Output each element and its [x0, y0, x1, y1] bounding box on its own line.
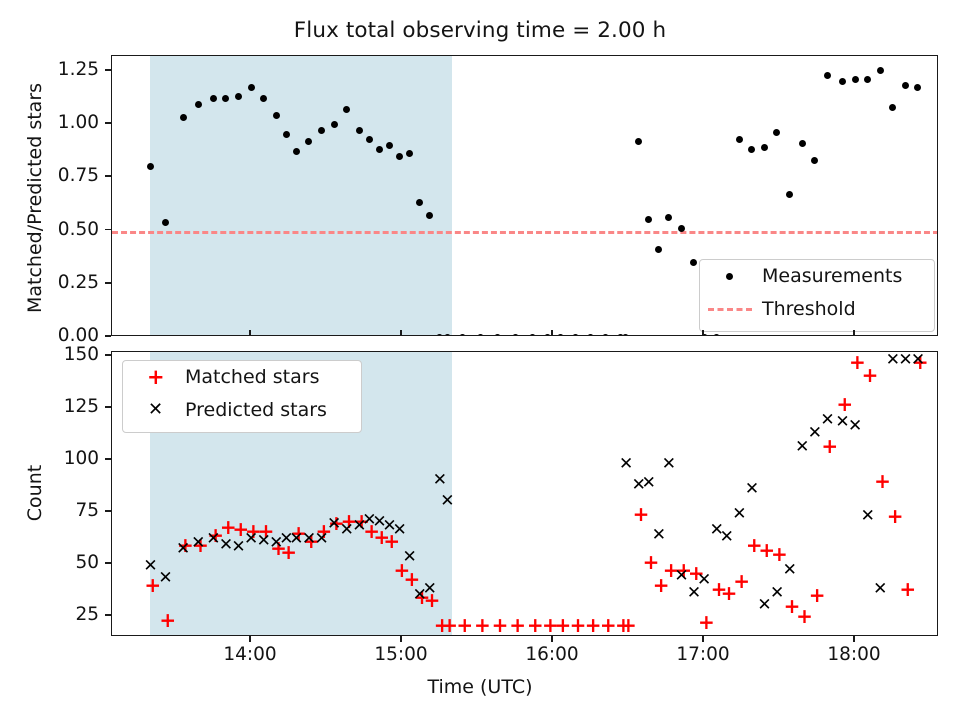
matched-star-marker: + [698, 612, 710, 632]
legend-label-measurements: Measurements [762, 265, 902, 287]
data-point [602, 334, 609, 336]
top-panel-legend: Measurements Threshold [699, 259, 935, 332]
data-point [799, 140, 806, 147]
ytick-label: 75 [0, 499, 99, 523]
matched-star-marker: + [796, 606, 808, 626]
data-point [748, 146, 755, 153]
data-point [839, 78, 846, 85]
data-point [811, 157, 818, 164]
data-point [386, 142, 393, 149]
ytick-label: 50 [0, 551, 99, 575]
predicted-star-marker: ✕ [820, 412, 834, 429]
data-point [273, 112, 280, 119]
matched-star-marker: + [862, 365, 874, 385]
legend-label-matched-stars: Matched stars [185, 366, 319, 388]
data-point [459, 334, 466, 336]
matched-star-marker: + [836, 394, 848, 414]
data-point [343, 106, 350, 113]
matched-star-marker: + [643, 552, 655, 572]
data-point [877, 67, 884, 74]
predicted-star-marker: ✕ [911, 352, 925, 369]
data-point [235, 93, 242, 100]
matched-star-marker: + [620, 615, 632, 635]
predicted-star-marker: ✕ [176, 541, 190, 558]
figure: Flux total observing time = 2.00 h Match… [0, 0, 960, 720]
bottom-panel-legend: + Matched stars ✕ Predicted stars [122, 360, 362, 433]
data-point [283, 131, 290, 138]
data-point [305, 138, 312, 145]
predicted-star-marker: ✕ [440, 493, 454, 510]
data-point [622, 334, 629, 336]
xtick-label: 14:00 [190, 644, 310, 665]
data-point [761, 144, 768, 151]
ytick-label: 1.00 [0, 111, 99, 135]
data-point [162, 219, 169, 226]
predicted-star-marker: ✕ [403, 549, 417, 566]
ytick-label: 0.25 [0, 271, 99, 295]
ytick-label: 25 [0, 603, 99, 627]
data-point [713, 334, 720, 336]
xaxis-label: Time (UTC) [0, 676, 960, 698]
predicted-star-marker: ✕ [619, 456, 633, 473]
matched-star-marker: + [585, 615, 597, 635]
data-point [635, 138, 642, 145]
matched-star-marker: + [509, 615, 521, 635]
matched-star-marker: + [663, 560, 675, 580]
legend-label-threshold: Threshold [762, 298, 856, 320]
predicted-star-marker: ✕ [783, 562, 797, 579]
data-point [318, 127, 325, 134]
data-point [572, 334, 579, 336]
data-point [690, 259, 697, 266]
data-point [889, 104, 896, 111]
data-point [864, 76, 871, 83]
xtick-mark [551, 330, 553, 336]
data-point [665, 214, 672, 221]
predicted-star-marker: ✕ [861, 508, 875, 525]
predicted-star-marker: ✕ [433, 472, 447, 489]
predicted-star-marker: ✕ [191, 535, 205, 552]
predicted-star-marker: ✕ [642, 475, 656, 492]
data-point [914, 84, 921, 91]
xtick-label: 16:00 [492, 644, 612, 665]
data-point [557, 334, 564, 336]
legend-entry-threshold[interactable]: Threshold [707, 298, 856, 320]
data-point [376, 146, 383, 153]
ytick-label: 150 [0, 343, 99, 367]
xtick-label: 18:00 [794, 644, 914, 665]
data-point [852, 76, 859, 83]
ytick-label: 0.50 [0, 218, 99, 242]
data-point [248, 84, 255, 91]
xtick-mark [400, 636, 402, 642]
xtick-label: 17:00 [643, 644, 763, 665]
ytick-label: 100 [0, 447, 99, 471]
matched-star-marker: + [784, 596, 796, 616]
matched-star-marker: + [849, 352, 861, 372]
predicted-star-marker: ✕ [745, 481, 759, 498]
matched-star-marker: + [899, 579, 911, 599]
data-point [824, 72, 831, 79]
data-point [773, 129, 780, 136]
xtick-mark [702, 636, 704, 642]
predicted-star-marker: ✕ [770, 585, 784, 602]
predicted-stars-marker-icon: ✕ [130, 399, 176, 421]
legend-entry-predicted-stars[interactable]: ✕ Predicted stars [130, 399, 327, 421]
matched-star-marker: + [474, 615, 486, 635]
figure-title: Flux total observing time = 2.00 h [0, 18, 960, 43]
matched-star-marker: + [492, 615, 504, 635]
predicted-star-marker: ✕ [848, 418, 862, 435]
xtick-mark [249, 330, 251, 336]
matched-star-marker: + [555, 615, 567, 635]
data-point [678, 225, 685, 232]
data-point [786, 191, 793, 198]
matched-star-marker: + [441, 615, 453, 635]
predicted-star-marker: ✕ [423, 581, 437, 598]
matched-star-marker: + [159, 610, 171, 630]
legend-entry-matched-stars[interactable]: + Matched stars [130, 366, 319, 388]
data-point [736, 136, 743, 143]
matched-stars-marker-icon: + [130, 366, 176, 388]
threshold-line-icon [707, 298, 753, 320]
matched-star-marker: + [874, 471, 886, 491]
ytick-label: 125 [0, 395, 99, 419]
matched-star-marker: + [600, 615, 612, 635]
xtick-label: 15:00 [341, 644, 461, 665]
predicted-star-marker: ✕ [720, 529, 734, 546]
data-point [902, 82, 909, 89]
matched-star-marker: + [542, 615, 554, 635]
data-point [477, 334, 484, 336]
predicted-star-marker: ✕ [158, 570, 172, 587]
ytick-label: 0.75 [0, 164, 99, 188]
xtick-mark [702, 330, 704, 336]
data-point [512, 334, 519, 336]
matched-star-marker: + [232, 519, 244, 539]
xtick-mark [551, 636, 553, 642]
top-panel-ylabel: Matched/Predicted stars [23, 53, 47, 343]
data-point [356, 127, 363, 134]
data-point [587, 334, 594, 336]
predicted-star-marker: ✕ [873, 581, 887, 598]
matched-star-marker: + [220, 517, 232, 537]
data-point [396, 153, 403, 160]
matched-star-marker: + [733, 571, 745, 591]
matched-star-marker: + [721, 583, 733, 603]
data-point [210, 95, 217, 102]
legend-entry-measurements[interactable]: Measurements [707, 265, 902, 287]
legend-label-predicted-stars: Predicted stars [185, 399, 327, 421]
data-point [655, 246, 662, 253]
matched-star-marker: + [633, 504, 645, 524]
matched-star-marker: + [771, 544, 783, 564]
xtick-mark [249, 636, 251, 642]
matched-star-marker: + [809, 585, 821, 605]
predicted-star-marker: ✕ [392, 522, 406, 539]
predicted-star-marker: ✕ [652, 527, 666, 544]
top-panel-shaded-region [150, 56, 452, 335]
xtick-mark [853, 636, 855, 642]
matched-star-marker: + [887, 506, 899, 526]
threshold-line [112, 231, 937, 234]
matched-star-marker: + [758, 540, 770, 560]
data-point [180, 114, 187, 121]
matched-star-marker: + [570, 615, 582, 635]
predicted-star-marker: ✕ [662, 456, 676, 473]
predicted-star-marker: ✕ [732, 506, 746, 523]
data-point [529, 334, 536, 336]
data-point [645, 216, 652, 223]
predicted-star-marker: ✕ [697, 572, 711, 589]
matched-star-marker: + [821, 436, 833, 456]
matched-star-marker: + [456, 615, 468, 635]
data-point [494, 334, 501, 336]
data-point [331, 121, 338, 128]
data-point [366, 136, 373, 143]
matched-star-marker: + [746, 535, 758, 555]
predicted-star-marker: ✕ [143, 558, 157, 575]
ytick-label: 1.25 [0, 58, 99, 82]
data-point [147, 163, 154, 170]
measurements-marker-icon [707, 265, 753, 287]
matched-star-marker: + [144, 575, 156, 595]
xtick-mark [400, 330, 402, 336]
matched-star-marker: + [527, 615, 539, 635]
xtick-mark [853, 330, 855, 336]
